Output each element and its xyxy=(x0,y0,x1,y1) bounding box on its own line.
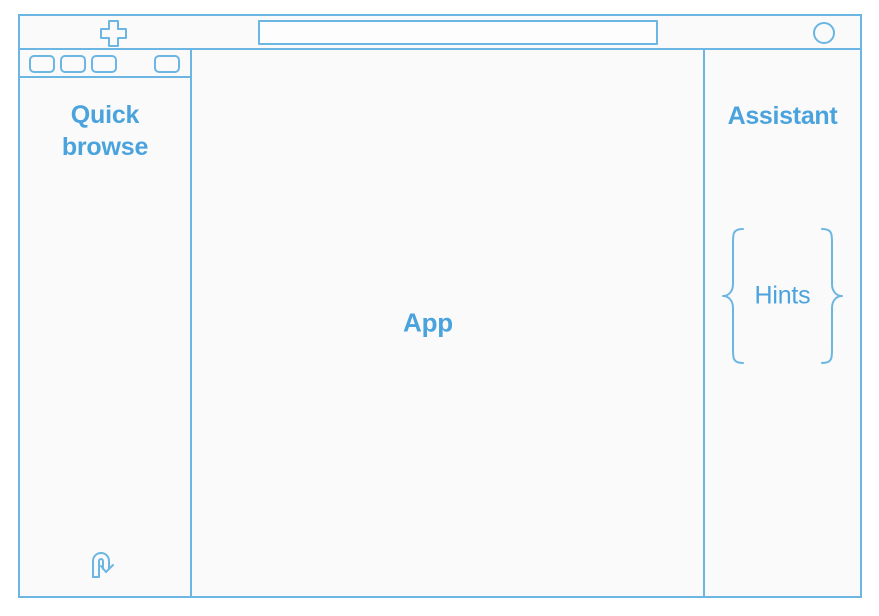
search-input[interactable] xyxy=(258,20,658,45)
toolbar-button-2[interactable] xyxy=(60,55,86,73)
toolbar-button-3[interactable] xyxy=(91,55,117,73)
toolbar-button-1[interactable] xyxy=(29,55,55,73)
circle-avatar-icon[interactable] xyxy=(813,22,835,44)
toolbar-button-4[interactable] xyxy=(154,55,180,73)
sidebar-title: Quick browse xyxy=(20,100,190,163)
wireframe-canvas: Quick browse App Assistant xyxy=(0,0,879,616)
sidebar-toolbar xyxy=(20,50,190,78)
sidebar-title-line-1: Quick xyxy=(20,100,190,132)
plus-icon[interactable] xyxy=(98,19,129,48)
app-label: App xyxy=(192,308,664,339)
hints-group: Hints xyxy=(705,226,860,366)
app-window-frame: Quick browse App Assistant xyxy=(18,14,862,598)
assistant-panel: Assistant Hints xyxy=(705,50,860,596)
u-turn-arrow-icon[interactable] xyxy=(88,550,120,580)
sidebar-title-line-2: browse xyxy=(20,132,190,164)
assistant-title: Assistant xyxy=(705,102,860,131)
brace-right-icon xyxy=(818,226,846,366)
top-bar xyxy=(20,16,860,50)
main-app-panel[interactable]: App xyxy=(192,50,664,596)
sidebar-panel: Quick browse xyxy=(20,78,190,596)
